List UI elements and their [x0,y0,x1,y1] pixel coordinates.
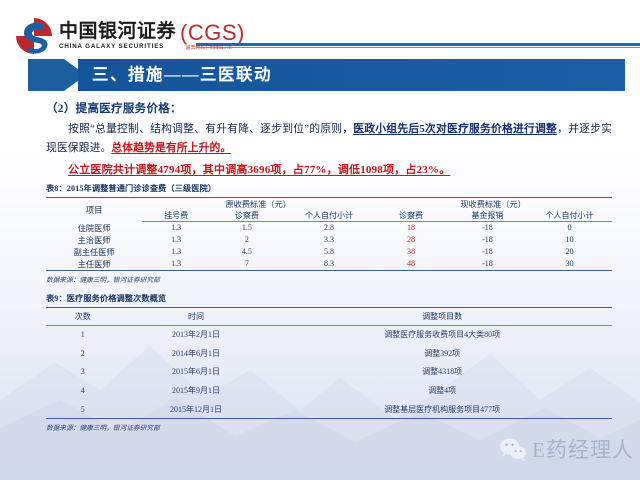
table-row: 副主任医师 1.3 4.5 5.8 38 -18 20 [46,246,612,258]
table-row: 4 2015年9月1日 调整4项 [46,381,612,400]
table8-col-0: 挂号费 [142,210,210,222]
highlight-statistic-line: 公立医院共计调整4794项，其中调高3696项，占77%，调低1098项，占23… [46,162,612,178]
table-row: 主治医师 1.3 2 3.3 28 -18 10 [46,234,612,246]
table-row: 住院医师 1.3 1.5 2.8 18 -18 0 [46,222,612,234]
brand-logo: 中国银河证券 CHINA GALAXY SECURITIES (CGS) 股票代… [14,14,245,58]
table8-row3-c0: 1.3 [142,258,210,271]
table8-row0-label: 住院医师 [46,222,142,234]
table-row: 5 2015年12月1日 调整基层医疗机构服务项目477项 [46,400,612,419]
table9-row0-date: 2013年2月1日 [120,325,273,344]
table9-row0-index: 1 [46,325,120,344]
table8-col-5: 个人自付小计 [527,210,612,222]
table8-row2-c4: -18 [448,246,527,258]
table8-row2-c3: 38 [374,246,448,258]
table8-row0-c2: 2.8 [284,222,375,234]
table8-row0-c1: 1.5 [210,222,284,234]
paragraph-highlight-red: 总体趋势是有所上升的。 [111,142,231,154]
table8-row2-c1: 4.5 [210,246,284,258]
table8-group-old: 原收费标准（元） [142,198,374,211]
table8-row1-c4: -18 [448,234,527,246]
section-title-text: 三、措施——三医联动 [92,57,272,93]
table9-row2-index: 3 [46,363,120,382]
table9-source: 数据来源：健康三明，银河证券研究部 [46,422,612,432]
channel-watermark: E药经理人 [498,434,634,464]
table9-row4-index: 5 [46,400,120,419]
header-divider [196,43,640,46]
paragraph-highlight-blue: 医政小组先后5次对医疗服务价格进行调整 [353,123,557,135]
table9-header-row: 次数 时间 调整项目数 [46,307,612,325]
table9-col-0: 次数 [46,307,120,325]
table8-row3-c2: 8.3 [284,258,375,271]
table8-row0-c4: -18 [448,222,527,234]
paragraph-part-1: 按照“总量控制、结构调整、有升有降、逐步到位”的原则， [68,123,353,135]
table9-row4-detail: 调整基层医疗机构服务项目477项 [272,400,612,419]
table8-group-header-row: 项目 原收费标准（元） 现收费标准（元） [46,198,612,211]
table9-row4-date: 2015年12月1日 [120,400,273,419]
table9-col-2: 调整项目数 [272,307,612,325]
table8-row3-c5: 30 [527,258,612,271]
table8-row1-c1: 2 [210,234,284,246]
table8-row2-c0: 1.3 [142,246,210,258]
logo-chinese-name: 中国银河证券 [59,22,176,42]
table8-row3-label: 主任医师 [46,258,142,271]
table9-row2-detail: 调整4318项 [272,363,612,382]
header-divider-thin [196,47,640,48]
table8-col-2: 个人自付小计 [284,210,375,222]
table8-row2-label: 副主任医师 [46,246,142,258]
table8-row1-c5: 10 [527,234,612,246]
table9: 次数 时间 调整项目数 1 2013年2月1日 调整医疗服务收费项目4大类80项… [46,307,612,420]
logo-english-name: CHINA GALAXY SECURITIES [59,42,176,51]
table8-row1-label: 主治医师 [46,234,142,246]
table8-row3-c3: 48 [374,258,448,271]
slide-canvas: 中国银河证券 CHINA GALAXY SECURITIES (CGS) 股票代… [0,0,640,480]
table9-row1-date: 2014年6月1日 [120,344,273,363]
table-row: 3 2015年6月1日 调整4318项 [46,363,612,382]
paragraph-main: 按照“总量控制、结构调整、有升有降、逐步到位”的原则，医政小组先后5次对医疗服务… [46,120,612,158]
table8-row3-c4: -18 [448,258,527,271]
table9-row1-index: 2 [46,344,120,363]
wechat-icon [498,436,528,462]
table8-col-1: 诊察费 [210,210,284,222]
table8-row2-c2: 5.8 [284,246,375,258]
table8: 项目 原收费标准（元） 现收费标准（元） 挂号费 诊察费 个人自付小计 诊察费 … [46,197,612,271]
table-row: 主任医师 1.3 7 8.3 48 -18 30 [46,258,612,271]
logo-abbreviation: (CGS) [180,21,245,44]
table8-item-header: 项目 [46,198,142,222]
table8-group-new: 现收费标准（元） [374,198,612,211]
table9-row3-index: 4 [46,381,120,400]
table9-row2-date: 2015年6月1日 [120,363,273,382]
table8-col-4: 基金报销 [448,210,527,222]
watermark-label: E药经理人 [532,434,634,464]
table9-row3-date: 2015年9月1日 [120,381,273,400]
table8-row1-c0: 1.3 [142,234,210,246]
table8-row1-c2: 3.3 [284,234,375,246]
table9-caption: 表9：医疗服务价格调整次数概览 [46,293,612,305]
table-row: 1 2013年2月1日 调整医疗服务收费项目4大类80项 [46,325,612,344]
table8-row2-c5: 20 [527,246,612,258]
table9-row1-detail: 调整392项 [272,344,612,363]
table9-row0-detail: 调整医疗服务收费项目4大类80项 [272,325,612,344]
table8-row0-c3: 18 [374,222,448,234]
content-body: （2）提高医疗服务价格： 按照“总量控制、结构调整、有升有降、逐步到位”的原则，… [46,101,612,432]
table9-col-1: 时间 [120,307,273,325]
table8-col-3: 诊察费 [374,210,448,222]
table8-row0-c0: 1.3 [142,222,210,234]
table8-row3-c1: 7 [210,258,284,271]
section-title-banner: 三、措施——三医联动 [28,57,625,93]
table8-row0-c5: 0 [527,222,612,234]
table9-row3-detail: 调整4项 [272,381,612,400]
table8-row1-c3: 28 [374,234,448,246]
table8-caption: 表8：2015年调整普通门诊诊查费（三级医院） [46,183,612,195]
galaxy-swirl-icon [14,16,54,56]
paragraph-heading: （2）提高医疗服务价格： [46,101,612,117]
table8-source: 数据来源：健康三明，银河证券研究部 [46,274,612,284]
table-row: 2 2014年6月1日 调整392项 [46,344,612,363]
